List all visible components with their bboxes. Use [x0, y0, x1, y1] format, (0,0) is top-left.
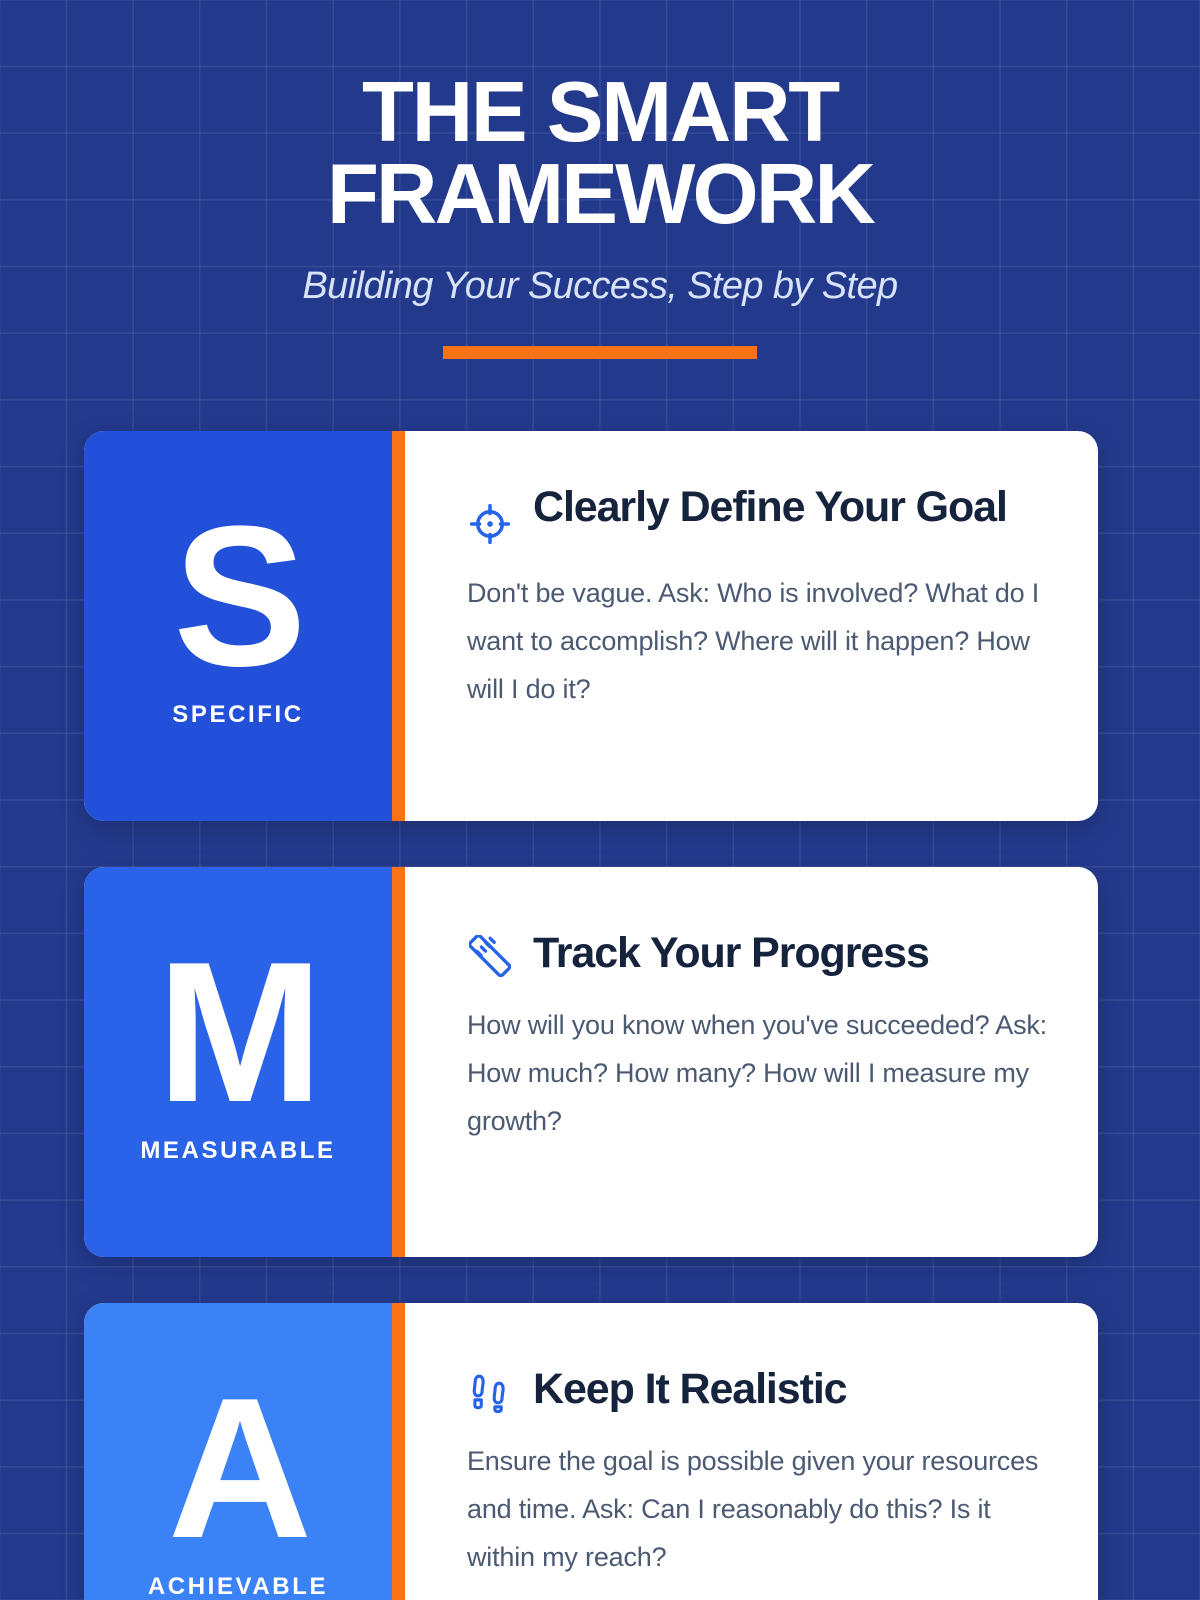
letter-panel-specific: S SPECIFIC — [84, 431, 392, 821]
target-crosshair-icon — [467, 501, 513, 547]
smart-card-measurable[interactable]: M MEASURABLE Track Your Progress How wil… — [84, 867, 1098, 1257]
card-body-text: Don't be vague. Ask: Who is involved? Wh… — [467, 569, 1052, 713]
title-line-1: THE SMART — [0, 72, 1200, 154]
ruler-icon — [467, 933, 513, 979]
letter-glyph: S — [173, 515, 302, 679]
letter-word: MEASURABLE — [140, 1137, 335, 1165]
footprints-icon — [467, 1369, 513, 1415]
accent-bar — [392, 431, 405, 821]
letter-word: ACHIEVABLE — [148, 1573, 328, 1600]
title-line-2: FRAMEWORK — [0, 154, 1200, 236]
smart-card-specific[interactable]: S SPECIFIC Clearly Define Your Goal — [84, 431, 1098, 821]
smart-cards-list: S SPECIFIC Clearly Define Your Goal — [0, 431, 1200, 1600]
card-body-text: Ensure the goal is possible given your r… — [467, 1437, 1052, 1581]
card-title: Clearly Define Your Goal — [533, 483, 1052, 532]
card-content: Clearly Define Your Goal Don't be vague.… — [405, 431, 1098, 821]
card-body-text: How will you know when you've succeeded?… — [467, 1001, 1052, 1145]
orange-divider — [443, 346, 757, 359]
card-heading-row: Clearly Define Your Goal — [467, 483, 1052, 547]
letter-word: SPECIFIC — [172, 701, 303, 729]
page-title: THE SMART FRAMEWORK — [0, 72, 1200, 237]
card-content: Keep It Realistic Ensure the goal is pos… — [405, 1303, 1098, 1600]
letter-panel-achievable: A ACHIEVABLE — [84, 1303, 392, 1600]
card-title: Keep It Realistic — [533, 1365, 1052, 1414]
letter-panel-measurable: M MEASURABLE — [84, 867, 392, 1257]
header: THE SMART FRAMEWORK Building Your Succes… — [0, 0, 1200, 359]
letter-glyph: M — [157, 951, 320, 1115]
page-subtitle: Building Your Success, Step by Step — [0, 265, 1200, 308]
card-heading-row: Track Your Progress — [467, 929, 1052, 979]
accent-bar — [392, 867, 405, 1257]
smart-card-achievable[interactable]: A ACHIEVABLE Keep It Realistic Ensure th… — [84, 1303, 1098, 1600]
card-content: Track Your Progress How will you know wh… — [405, 867, 1098, 1257]
accent-bar — [392, 1303, 405, 1600]
letter-glyph: A — [168, 1387, 308, 1551]
card-heading-row: Keep It Realistic — [467, 1365, 1052, 1415]
card-title: Track Your Progress — [533, 929, 1052, 978]
